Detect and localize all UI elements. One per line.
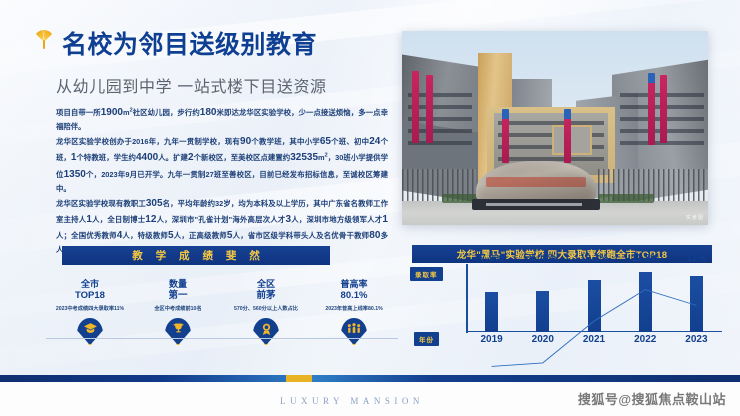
fan-shell-logo-icon: [31, 28, 57, 50]
stat-item: 全市 TOP18 2023中考成绩四大录取率11%: [46, 278, 134, 345]
stat-line2: TOP18: [46, 290, 134, 303]
stat-caption: 2023年普高上线率80.1%: [310, 305, 398, 312]
chart-x-tick: 2021: [568, 334, 619, 350]
stats-baseline: [46, 338, 398, 339]
slide-root: 名校为邻目送级别教育 从幼儿园到中学 一站式楼下目送资源 项目自带一所1900m…: [0, 0, 740, 416]
stat-line2: 80.1%: [310, 290, 398, 303]
photo-corner-tag: 实景图: [686, 214, 704, 221]
stat-line2: 第一: [134, 290, 222, 303]
medal-icon: [253, 318, 279, 344]
chart-x-tick: 2019: [466, 334, 517, 350]
stat-line1: 全区: [222, 278, 310, 290]
brand-wordmark: LUXURY MANSION: [280, 396, 424, 406]
stat-line1: 数量: [134, 278, 222, 290]
chart-x-tick-labels: 20192020202120222023: [466, 334, 722, 350]
body-paragraph-1: 项目自带一所1900m2社区幼儿园，步行约180米即达龙华区实验学校，少一点接送…: [56, 105, 388, 133]
chart-x-tick: 2020: [517, 334, 568, 350]
watermark: 搜狐号@搜狐焦点鞍山站: [578, 389, 726, 408]
page-subtitle: 从幼儿园到中学 一站式楼下目送资源: [56, 73, 327, 97]
page-title: 名校为邻目送级别教育: [62, 25, 317, 61]
trophy-icon: [165, 318, 191, 344]
chart-y-axis-label: 录取率: [410, 267, 443, 281]
achievements-banner-label: 教 学 成 绩 斐 然: [127, 248, 265, 263]
chart-plot-area: 7.9%8.08%10.2%11.8%11%: [466, 266, 722, 332]
chart-bar-value-label: 11%: [687, 253, 706, 264]
stat-caption: 2023中考成绩四大录取率11%: [46, 305, 134, 312]
stat-line1: 普高率: [310, 278, 398, 290]
chart-bar-value-label: 11.8%: [631, 253, 659, 264]
stat-line2: 前茅: [222, 290, 310, 303]
footer-accent-bar: [0, 375, 740, 382]
footer: LUXURY MANSION 搜狐号@搜狐焦点鞍山站: [0, 382, 740, 416]
stat-caption: 570分、560分以上人数占比: [222, 305, 310, 312]
graduation-cap-icon: [77, 318, 103, 344]
chart-x-axis-label: 年份: [414, 332, 439, 346]
people-icon: [341, 318, 367, 344]
chart-bar-value-label: 10.2%: [580, 253, 608, 264]
chart-bar-value-label: 8.08%: [529, 253, 557, 264]
chart-x-tick: 2022: [620, 334, 671, 350]
body-copy: 项目自带一所1900m2社区幼儿园，步行约180米即达龙华区实验学校，少一点接送…: [56, 105, 388, 257]
stat-item: 数量 第一 全区中考成绩前10名: [134, 278, 222, 345]
stat-caption: 全区中考成绩前10名: [134, 305, 222, 312]
achievement-stats: 全市 TOP18 2023中考成绩四大录取率11% 数量 第一 全区中考成绩前1…: [46, 278, 398, 345]
chart-bar-value-label: 7.9%: [480, 253, 503, 264]
chart-x-tick: 2023: [671, 334, 722, 350]
stat-item: 普高率 80.1% 2023年普高上线率80.1%: [310, 278, 398, 345]
stat-item: 全区 前茅 570分、560分以上人数占比: [222, 278, 310, 345]
body-paragraph-2: 龙华区实验学校创办于2016年，九年一贯制学校，现有90个教学班，其中小学65个…: [56, 134, 388, 195]
school-campus-photo: 实景图: [402, 31, 708, 225]
achievements-banner: 教 学 成 绩 斐 然: [62, 246, 330, 265]
stat-line1: 全市: [46, 278, 134, 290]
admission-rate-chart: 录取率 年份 7.9%8.08%10.2%11.8%11% 2019202020…: [404, 266, 726, 350]
chart-title-banner: 龙华"黑马"实验学校 四大录取率领跑全市TOP18: [412, 245, 712, 263]
